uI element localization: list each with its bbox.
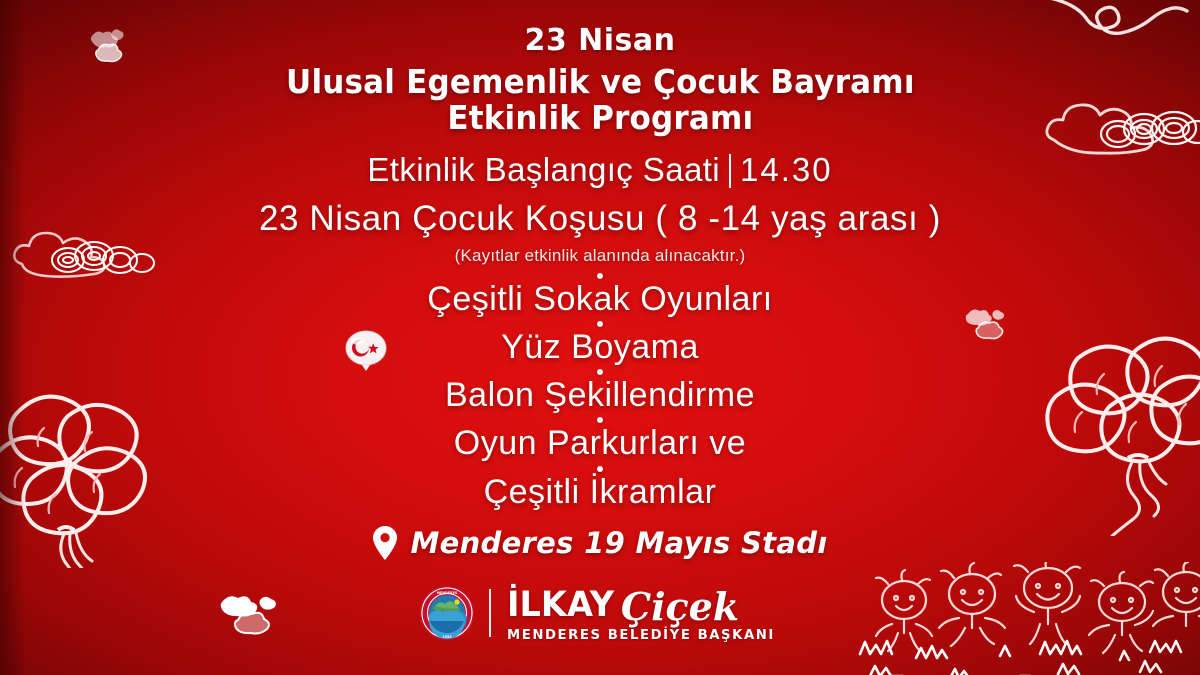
mayor-brand: İLKAY Çiçek MENDERES BELEDİYE BAŞKANI	[507, 584, 780, 643]
registration-note: (Kayıtlar etkinlik alanında alınacaktır.…	[455, 246, 746, 266]
mayor-title: MENDERES BELEDİYE BAŞKANI	[507, 627, 775, 643]
venue-row: Menderes 19 Mayıs Stadı	[372, 525, 827, 561]
svg-text:1952: 1952	[443, 635, 453, 639]
headline-line-2: Etkinlik Programı	[286, 100, 915, 136]
mayor-last-name: Çiçek	[621, 588, 739, 626]
poster-content: 23 Nisan Ulusal Egemenlik ve Çocuk Bayra…	[0, 0, 1200, 675]
start-time-row: Etkinlik Başlangıç Saati 14.30	[367, 151, 832, 189]
event-date: 23 Nisan	[524, 23, 675, 58]
bullet-dot	[597, 321, 603, 327]
bullet-dot	[597, 466, 603, 472]
list-item: Oyun Parkurları ve	[454, 424, 746, 462]
list-item: Balon Şekillendirme	[445, 376, 755, 414]
footer-divider	[489, 589, 491, 637]
start-time-value: 14.30	[740, 151, 833, 189]
mayor-name-row: İLKAY Çiçek	[507, 584, 739, 623]
bullet-dot	[597, 273, 603, 279]
location-pin-icon	[372, 525, 398, 561]
bullet-dot	[597, 417, 603, 423]
start-time-label: Etkinlik Başlangıç Saati	[367, 151, 720, 189]
menderes-belediyesi-seal-icon: MENDERES 1952	[419, 585, 475, 641]
headline-line-1: Ulusal Egemenlik ve Çocuk Bayramı	[286, 62, 915, 101]
activities-list: Çeşitli Sokak Oyunları Yüz Boyama Balon …	[427, 270, 772, 510]
childrens-run-event: 23 Nisan Çocuk Koşusu ( 8 -14 yaş arası …	[259, 199, 941, 239]
list-item: Çeşitli İkramlar	[484, 473, 717, 511]
list-item: Çeşitli Sokak Oyunları	[427, 280, 772, 318]
bullet-dot	[597, 369, 603, 375]
venue-name: Menderes 19 Mayıs Stadı	[410, 526, 827, 560]
page-title: Ulusal Egemenlik ve Çocuk Bayramı Etkinl…	[286, 64, 915, 135]
svg-text:MENDERES: MENDERES	[437, 591, 458, 595]
poster-canvas: 23 Nisan Ulusal Egemenlik ve Çocuk Bayra…	[0, 0, 1200, 675]
footer-branding: MENDERES 1952 İLKAY Çiçek MENDERES BELED…	[419, 584, 780, 643]
list-item: Yüz Boyama	[501, 328, 699, 366]
mayor-first-name: İLKAY	[507, 588, 614, 623]
time-separator	[729, 154, 731, 188]
